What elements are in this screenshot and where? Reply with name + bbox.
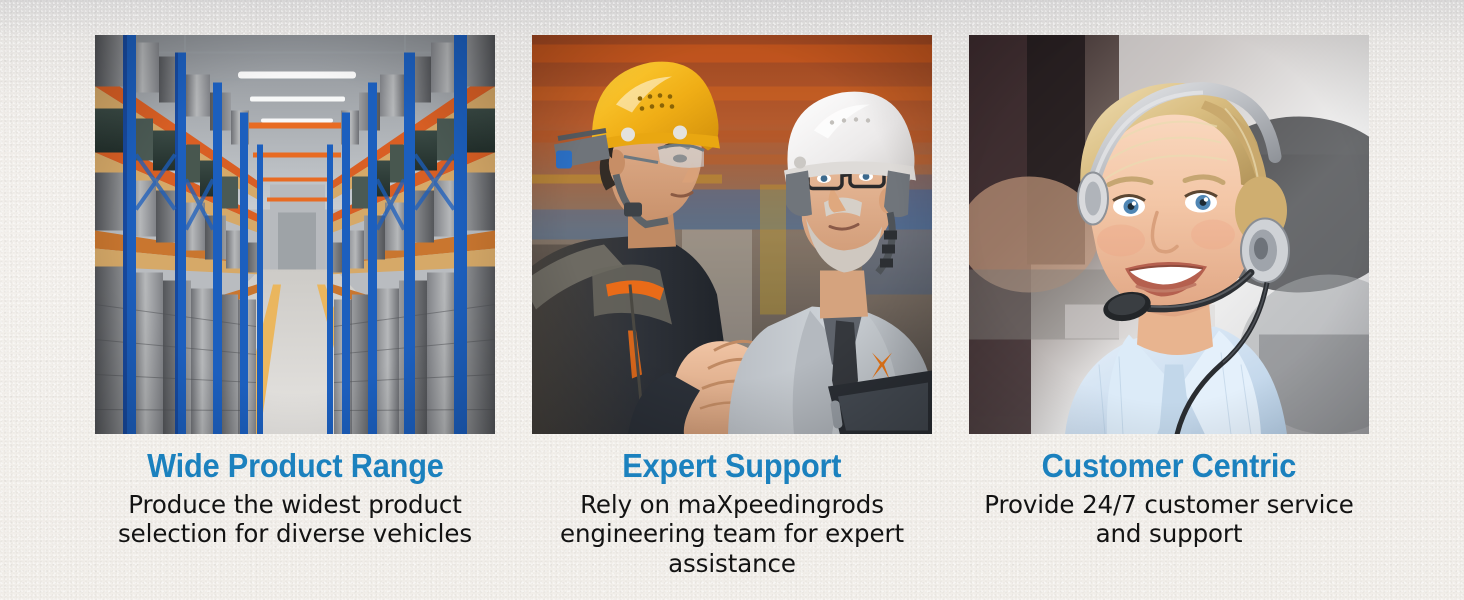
- warehouse-aisle-photo: [95, 35, 495, 434]
- feature-title: Customer Centric: [1042, 448, 1297, 484]
- customer-service-agent-photo: [969, 35, 1369, 434]
- feature-description: Rely on maXpeedingrods engineering team …: [536, 490, 928, 579]
- feature-card-row: Wide Product Range Produce the widest pr…: [0, 0, 1464, 600]
- feature-title: Expert Support: [622, 448, 841, 484]
- feature-description: Provide 24/7 customer service and suppor…: [973, 490, 1365, 549]
- feature-card: Customer Centric Provide 24/7 customer s…: [969, 35, 1369, 549]
- feature-banner: Wide Product Range Produce the widest pr…: [0, 0, 1464, 600]
- feature-description: Produce the widest product selection for…: [99, 490, 491, 549]
- engineers-discussion-photo: [532, 35, 932, 434]
- feature-card: Expert Support Rely on maXpeedingrods en…: [532, 35, 932, 579]
- feature-card: Wide Product Range Produce the widest pr…: [95, 35, 495, 549]
- feature-title: Wide Product Range: [147, 448, 443, 484]
